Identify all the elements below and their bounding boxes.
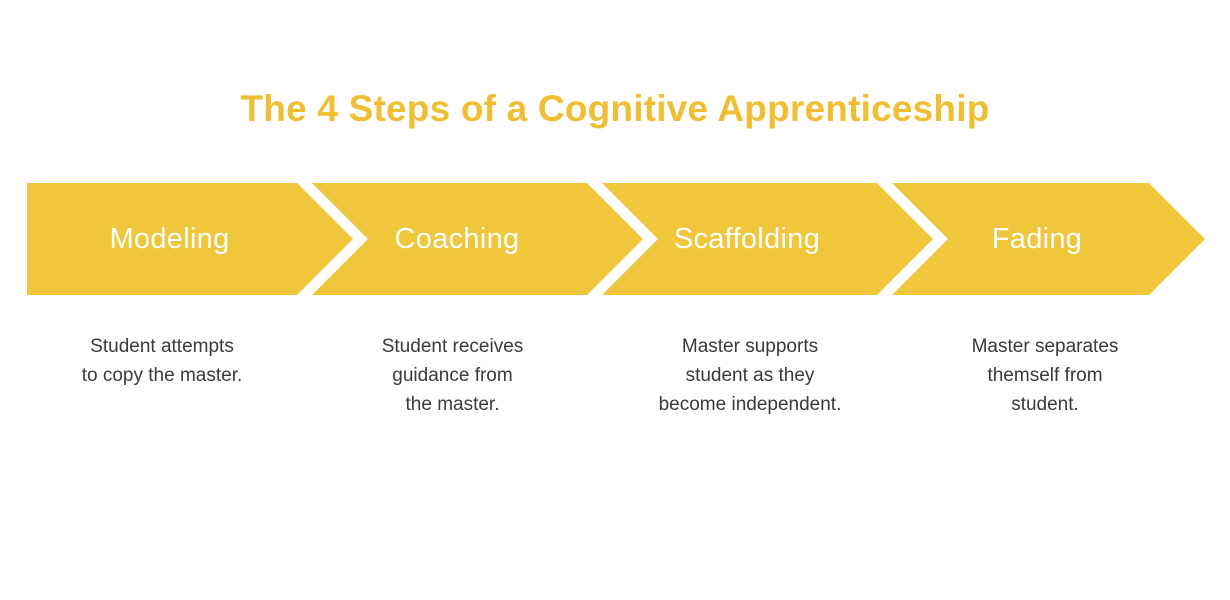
caption-line: student. (900, 390, 1190, 419)
process-arrow-4 (892, 183, 1205, 295)
caption-line: Master separates (900, 332, 1190, 361)
page-title: The 4 Steps of a Cognitive Apprenticeshi… (0, 88, 1230, 130)
caption-line: themself from (900, 361, 1190, 390)
process-arrow-3 (602, 183, 933, 295)
process-arrow-band (0, 183, 1230, 295)
step-caption-modeling: Student attempts to copy the master. (17, 332, 307, 390)
caption-line: to copy the master. (17, 361, 307, 390)
caption-line: become independent. (600, 390, 900, 419)
caption-line: Student receives (310, 332, 595, 361)
caption-line: guidance from (310, 361, 595, 390)
process-arrow-2 (312, 183, 643, 295)
caption-line: student as they (600, 361, 900, 390)
process-arrow-1 (27, 183, 353, 295)
caption-line: Master supports (600, 332, 900, 361)
step-caption-fading: Master separates themself from student. (900, 332, 1190, 419)
caption-line: Student attempts (17, 332, 307, 361)
cognitive-apprenticeship-infographic: The 4 Steps of a Cognitive Apprenticeshi… (0, 0, 1230, 600)
caption-line: the master. (310, 390, 595, 419)
step-caption-coaching: Student receives guidance from the maste… (310, 332, 595, 419)
step-caption-scaffolding: Master supports student as they become i… (600, 332, 900, 419)
